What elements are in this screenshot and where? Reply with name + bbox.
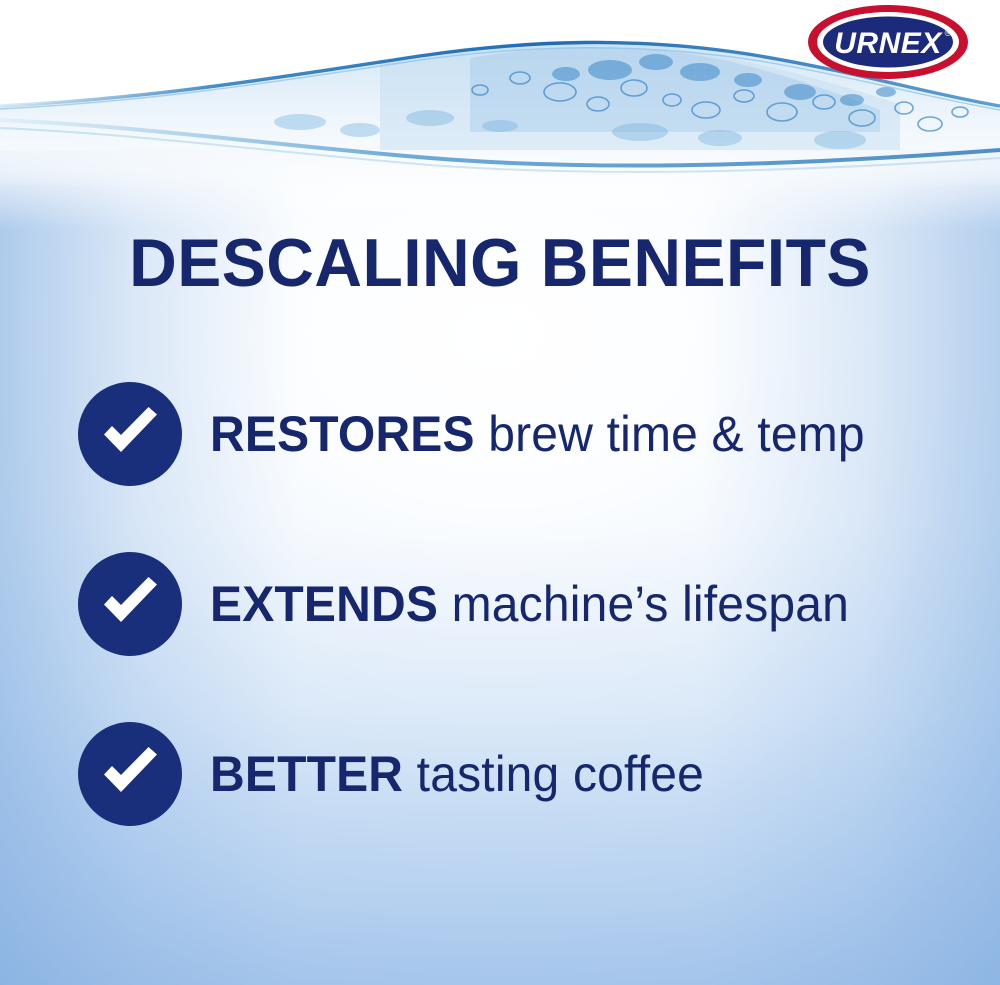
benefit-item-extends: EXTENDS machine’s lifespan bbox=[78, 548, 958, 660]
benefit-detail: machine’s lifespan bbox=[438, 576, 849, 632]
benefit-emphasis: RESTORES bbox=[210, 406, 475, 462]
check-circle-icon bbox=[78, 552, 182, 656]
benefit-emphasis: BETTER bbox=[210, 746, 403, 802]
benefits-list: RESTORES brew time & temp EXTENDS machin… bbox=[78, 378, 958, 830]
logo-wordmark: URNEX bbox=[834, 27, 943, 60]
benefit-item-restores: RESTORES brew time & temp bbox=[78, 378, 958, 490]
benefit-label: RESTORES brew time & temp bbox=[210, 406, 865, 462]
benefit-label: EXTENDS machine’s lifespan bbox=[210, 576, 849, 632]
benefit-detail: tasting coffee bbox=[403, 746, 704, 802]
logo-registered-mark: ® bbox=[945, 28, 952, 38]
check-circle-icon bbox=[78, 382, 182, 486]
benefit-item-better: BETTER tasting coffee bbox=[78, 718, 958, 830]
benefit-detail: brew time & temp bbox=[475, 406, 865, 462]
check-circle-icon bbox=[78, 722, 182, 826]
product-benefits-graphic: URNEX ® DESCALING BENEFITS RESTORES brew… bbox=[0, 0, 1000, 985]
benefit-label: BETTER tasting coffee bbox=[210, 746, 704, 802]
urnex-logo: URNEX ® bbox=[806, 2, 970, 82]
benefit-emphasis: EXTENDS bbox=[210, 576, 438, 632]
page-title: DESCALING BENEFITS bbox=[15, 226, 985, 300]
